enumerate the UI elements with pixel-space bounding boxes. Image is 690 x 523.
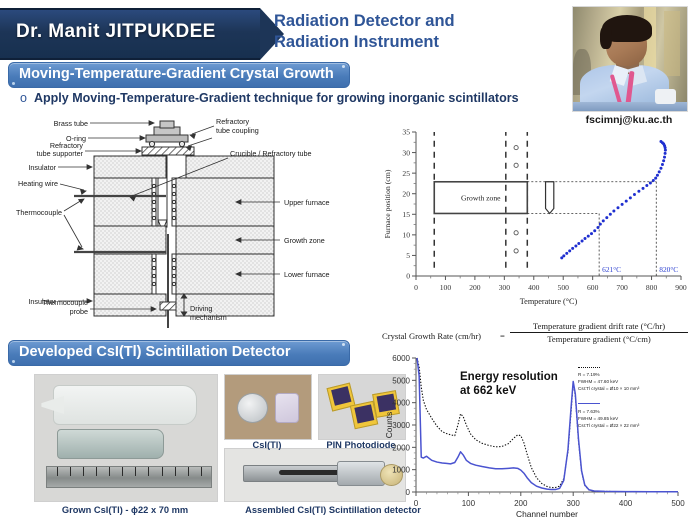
temp-xtick: 200 — [469, 283, 481, 292]
legend-dotted-fwhm: FWHM = 47.60 keV — [578, 378, 639, 385]
formula-denominator: Temperature gradient (°C/cm) — [510, 332, 688, 344]
section-header-detector: Developed CsI(Tl) Scintillation Detector — [8, 340, 350, 366]
photo-grown-crystal — [34, 374, 218, 502]
furnace-label-lower-furnace: Lower furnace — [284, 270, 330, 279]
temp-xtick: 900 — [675, 283, 687, 292]
spec-ytick: 6000 — [392, 354, 410, 363]
furnace-label-driving-2: mechanism — [190, 313, 227, 322]
furnace-schematic-diagram: Brass tube O-ring Refractory tube suppor… — [2, 116, 372, 334]
crystal-growth-rate-formula: Crystal Growth Rate (cm/hr) = Temperatur… — [382, 320, 690, 354]
slide-root: Dr. Manit JITPUKDEE Radiation Detector a… — [0, 0, 690, 518]
formula-numerator: Temperature gradient drift rate (°C/hr) — [510, 321, 688, 332]
temp-ytick: 35 — [402, 128, 410, 137]
furnace-label-heating-wire: Heating wire — [18, 179, 58, 188]
page-title: Radiation Detector and Radiation Instrum… — [274, 11, 504, 53]
caption-csi: CsI(Tl) — [224, 440, 310, 450]
photo-cup — [655, 89, 676, 104]
legend-entry-dotted: R = 7.19% FWHM = 47.60 keV CsI:Tl crysta… — [578, 364, 639, 392]
bar-dot-icon — [12, 360, 15, 363]
caption-grown-crystal: Grown CsI(Tl) - ϕ22 x 70 mm — [18, 505, 232, 515]
spec-xtick: 500 — [671, 499, 685, 508]
energy-spectrum-chart: 0100200300400500010002000300040005000600… — [382, 352, 690, 518]
section-header-growth-label: Moving-Temperature-Gradient Crystal Grow… — [19, 66, 334, 82]
photo-assembled-detector — [224, 448, 406, 502]
bar-dot-icon — [12, 82, 15, 85]
presenter-name: Dr. Manit JITPUKDEE — [16, 21, 216, 43]
furnace-label-probe-1: Thermocouple — [42, 298, 88, 307]
spec-ylabel: Counts — [384, 412, 394, 439]
temp-xtick: 500 — [558, 283, 570, 292]
presenter-photo — [572, 6, 688, 112]
temp-ytick: 15 — [402, 210, 410, 219]
bullet-growth-technique: oApply Moving-Temperature-Gradient techn… — [20, 91, 519, 105]
furnace-label-supporter-2: tube supporter — [37, 149, 84, 158]
furnace-label-coupling-2: tube coupling — [216, 126, 259, 135]
temp-ylabel: Furnace position (cm) — [383, 169, 392, 238]
spec-xtick: 400 — [619, 499, 633, 508]
spec-ytick: 3000 — [392, 421, 410, 430]
presenter-name-banner: Dr. Manit JITPUKDEE — [0, 8, 260, 60]
spectrum-annotation-line1: Energy resolution — [460, 370, 558, 384]
csi-crystal-sample — [275, 393, 299, 423]
legend-dotted-line-icon — [578, 365, 600, 368]
temperature-profile-chart: 0100200300400500600700800900051015202530… — [378, 124, 690, 314]
legend-dotted-crystal: CsI:Tl crystal = Ø10 × 10 mm³ — [578, 385, 639, 392]
furnace-label-brass-tube: Brass tube — [54, 119, 88, 128]
bar-dot-icon — [342, 343, 345, 346]
spec-ytick: 5000 — [392, 376, 410, 385]
spec-ytick: 2000 — [392, 443, 410, 452]
photo-csi-crystal — [224, 374, 312, 440]
spec-xlabel: Channel number — [516, 509, 578, 518]
legend-solid-r: R = 7.63% — [578, 408, 639, 415]
detector-barrel — [337, 461, 386, 486]
temp-xlabel: Temperature (°C) — [520, 297, 578, 306]
temp-xtick: 0 — [414, 283, 418, 292]
legend-entry-solid: R = 7.63% FWHM = 49.85 keV CsI:Tl crysta… — [578, 400, 639, 428]
detector-cable — [279, 470, 340, 475]
furnace-label-crucible: Crucible / Refractory tube — [230, 149, 312, 158]
temp-ytick: 30 — [402, 148, 410, 157]
formula-equals-sign: = — [500, 331, 505, 341]
reference-coin — [237, 393, 268, 423]
crystal-boule — [57, 429, 165, 459]
bar-dot-icon — [342, 65, 345, 68]
temp-ytick: 0 — [406, 272, 410, 281]
temp-ytick: 10 — [402, 231, 410, 240]
temp-ytick: 20 — [402, 189, 410, 198]
spectrum-annotation: Energy resolution at 662 keV — [460, 370, 558, 399]
furnace-label-probe-2: probe — [70, 307, 88, 316]
spec-xtick: 0 — [414, 499, 419, 508]
furnace-label-driving-1: Driving — [190, 304, 212, 313]
photo-hair-side — [600, 26, 611, 49]
section-header-growth: Moving-Temperature-Gradient Crystal Grow… — [8, 62, 350, 88]
temp-ytick: 25 — [402, 169, 410, 178]
legend-solid-fwhm: FWHM = 49.85 keV — [578, 415, 639, 422]
legend-solid-crystal: CsI:Tl crystal = Ø22 × 22 mm³ — [578, 422, 639, 429]
bullet-marker-icon: o — [20, 91, 34, 105]
furnace-label-coupling-1: Refractory — [216, 117, 250, 126]
temp-xtick: 800 — [646, 283, 658, 292]
furnace-label-upper-furnace: Upper furnace — [284, 198, 330, 207]
legend-solid-line-icon — [578, 401, 600, 404]
section-header-detector-label: Developed CsI(Tl) Scintillation Detector — [19, 344, 291, 360]
temp-xtick: 100 — [440, 283, 452, 292]
furnace-label-insulator-top: Insulator — [28, 163, 56, 172]
legend-dotted-r: R = 7.19% — [578, 371, 639, 378]
temp-xtick: 300 — [499, 283, 511, 292]
temp-profile-series — [560, 140, 667, 259]
formula-fraction: Temperature gradient drift rate (°C/hr) … — [510, 321, 688, 344]
photo-wall-panel-2 — [664, 11, 680, 75]
spec-xtick: 100 — [462, 499, 476, 508]
temp-annotation-820: 820°C — [659, 265, 678, 274]
formula-left-side: Crystal Growth Rate (cm/hr) — [382, 331, 481, 341]
spectrum-legend: R = 7.19% FWHM = 47.60 keV CsI:Tl crysta… — [578, 364, 639, 437]
growth-zone-label: Growth zone — [461, 194, 501, 203]
temp-ytick: 5 — [406, 251, 410, 260]
spectrum-annotation-line2: at 662 keV — [460, 384, 558, 398]
furnace-label-thermocouple: Thermocouple — [16, 208, 62, 217]
temp-xtick: 400 — [528, 283, 540, 292]
spec-ytick: 4000 — [392, 399, 410, 408]
crystal-ampoule — [53, 385, 197, 425]
temp-xtick: 600 — [587, 283, 599, 292]
spec-xtick: 300 — [567, 499, 581, 508]
temp-annotation-621: 621°C — [602, 265, 621, 274]
ruler — [46, 466, 212, 488]
bullet-text: Apply Moving-Temperature-Gradient techni… — [34, 91, 519, 105]
spec-ytick: 1000 — [392, 466, 410, 475]
temp-xtick: 700 — [616, 283, 628, 292]
spec-ytick: 0 — [406, 488, 411, 497]
spec-xtick: 200 — [514, 499, 528, 508]
furnace-label-growth-zone: Growth zone — [284, 236, 325, 245]
